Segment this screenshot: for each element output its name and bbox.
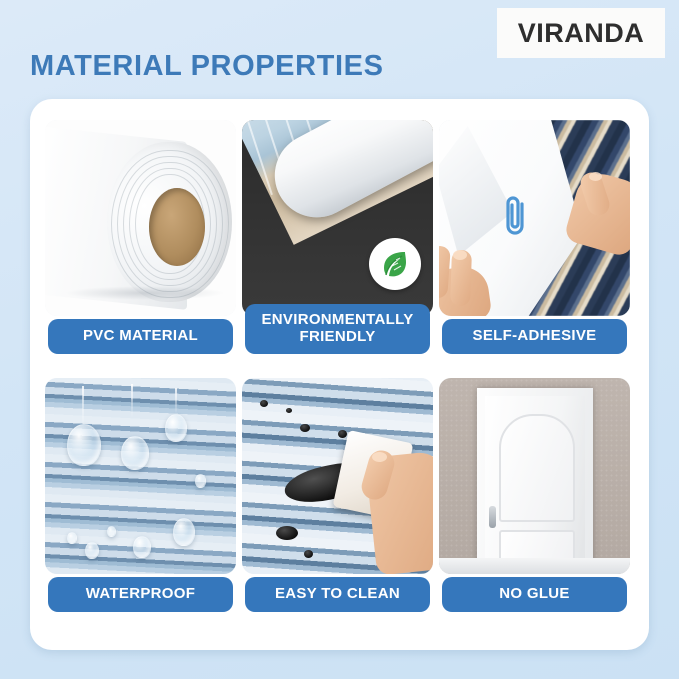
feature-card-self-adhesive[interactable]: SELF-ADHESIVE bbox=[439, 120, 630, 370]
page-title: MATERIAL PROPERTIES bbox=[30, 50, 384, 83]
feature-card-easy-to-clean[interactable]: EASY TO CLEAN bbox=[242, 378, 433, 628]
eco-leaf-badge bbox=[369, 238, 421, 290]
brand-logo: VIRANDA bbox=[497, 8, 665, 58]
leaf-icon bbox=[378, 247, 412, 281]
eco-peel-image bbox=[242, 120, 433, 316]
easy-to-clean-image bbox=[242, 378, 433, 574]
label-line-1: ENVIRONMENTALLY bbox=[261, 311, 413, 328]
pvc-roll-image bbox=[45, 120, 236, 316]
features-panel: PVC MATERIAL bbox=[30, 99, 649, 650]
brand-logo-text: VIRANDA bbox=[518, 18, 645, 49]
label-line-2: FRIENDLY bbox=[299, 328, 375, 345]
feature-label-environmentally-friendly: ENVIRONMENTALLY FRIENDLY bbox=[245, 304, 430, 354]
self-adhesive-image bbox=[439, 120, 630, 316]
waterproof-image bbox=[45, 378, 236, 574]
feature-label-no-glue: NO GLUE bbox=[442, 577, 627, 612]
feature-label-easy-to-clean: EASY TO CLEAN bbox=[245, 577, 430, 612]
feature-card-no-glue[interactable]: NO GLUE bbox=[439, 378, 630, 628]
feature-card-pvc-material[interactable]: PVC MATERIAL bbox=[45, 120, 236, 370]
paperclip-icon bbox=[501, 194, 531, 240]
feature-label-pvc-material: PVC MATERIAL bbox=[48, 319, 233, 354]
feature-label-waterproof: WATERPROOF bbox=[48, 577, 233, 612]
no-glue-image bbox=[439, 378, 630, 574]
features-grid: PVC MATERIAL bbox=[45, 120, 634, 628]
feature-card-environmentally-friendly[interactable]: ENVIRONMENTALLY FRIENDLY bbox=[242, 120, 433, 370]
feature-card-waterproof[interactable]: WATERPROOF bbox=[45, 378, 236, 628]
feature-label-self-adhesive: SELF-ADHESIVE bbox=[442, 319, 627, 354]
roll-core bbox=[149, 188, 205, 266]
door-handle bbox=[489, 506, 496, 528]
